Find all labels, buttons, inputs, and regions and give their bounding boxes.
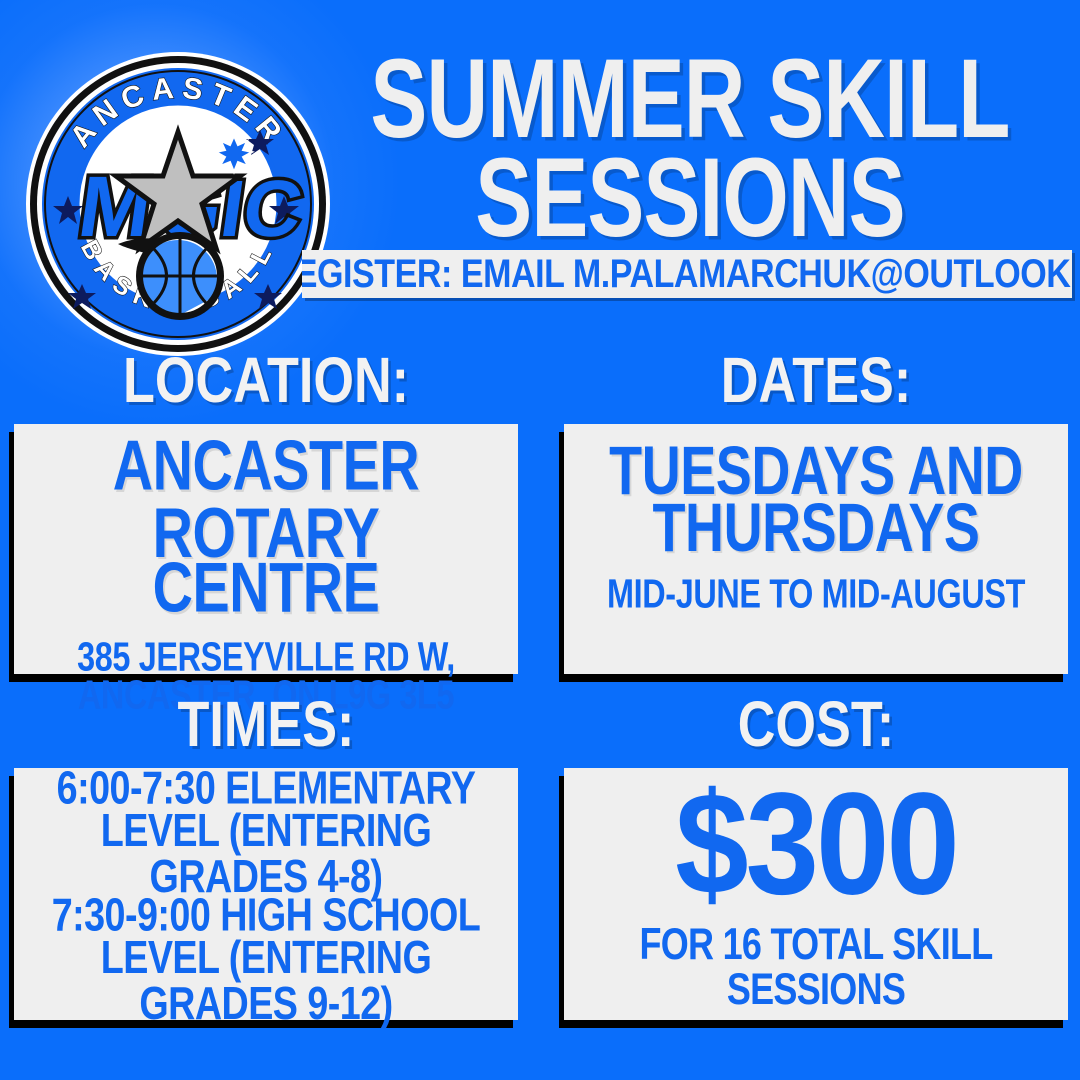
times-heading: TIMES:	[39, 693, 493, 757]
times-slot-1-line-2: LEVEL (ENTERING GRADES 4-8)	[47, 808, 485, 900]
times-slot-1: 6:00-7:30 ELEMENTARY LEVEL (ENTERING GRA…	[28, 768, 504, 895]
times-card: 6:00-7:30 ELEMENTARY LEVEL (ENTERING GRA…	[14, 768, 518, 1020]
location-venue-line-2: CENTRE	[52, 556, 480, 623]
ancaster-magic-logo: ANCASTER BASKETBALL M GIC	[22, 48, 334, 360]
register-email-bar[interactable]: TO REGISTER: EMAIL M.PALAMARCHUK@OUTLOOK…	[302, 250, 1072, 298]
dates-range: MID-JUNE TO MID-AUGUST	[602, 574, 1030, 614]
cost-section: COST: $300 FOR 16 TOTAL SKILL SESSIONS	[540, 696, 1080, 1020]
times-slot-2-line-2: LEVEL (ENTERING GRADES 9-12)	[47, 935, 485, 1027]
times-section: TIMES: 6:00-7:30 ELEMENTARY LEVEL (ENTER…	[0, 696, 540, 1020]
location-heading: LOCATION:	[39, 349, 493, 413]
register-email-text: TO REGISTER: EMAIL M.PALAMARCHUK@OUTLOOK…	[302, 251, 1072, 296]
dates-card: TUESDAYS AND THURSDAYS MID-JUNE TO MID-A…	[564, 424, 1068, 674]
cost-heading: COST:	[589, 693, 1043, 757]
info-grid: LOCATION: ANCASTER ROTARY CENTRE 385 JER…	[0, 352, 1080, 1020]
dates-section: DATES: TUESDAYS AND THURSDAYS MID-JUNE T…	[540, 352, 1080, 674]
cost-card: $300 FOR 16 TOTAL SKILL SESSIONS	[564, 768, 1068, 1020]
cost-price: $300	[578, 777, 1054, 911]
location-section: LOCATION: ANCASTER ROTARY CENTRE 385 JER…	[0, 352, 540, 674]
dates-days-line-2: THURSDAYS	[602, 495, 1030, 560]
poster-canvas: ANCASTER BASKETBALL M GIC	[0, 0, 1080, 1080]
location-venue-line-1: ANCASTER ROTARY	[52, 434, 480, 568]
poster-title: SUMMER SKILL SESSIONS	[300, 44, 1080, 236]
title-line-2: SESSIONS	[347, 143, 1033, 251]
dates-heading: DATES:	[589, 349, 1043, 413]
times-slot-2: 7:30-9:00 HIGH SCHOOL LEVEL (ENTERING GR…	[28, 895, 504, 1022]
cost-detail: FOR 16 TOTAL SKILL SESSIONS	[602, 922, 1030, 1012]
location-card: ANCASTER ROTARY CENTRE 385 JERSEYVILLE R…	[14, 424, 518, 674]
info-row-bottom: TIMES: 6:00-7:30 ELEMENTARY LEVEL (ENTER…	[0, 696, 1080, 1020]
info-row-top: LOCATION: ANCASTER ROTARY CENTRE 385 JER…	[0, 352, 1080, 674]
